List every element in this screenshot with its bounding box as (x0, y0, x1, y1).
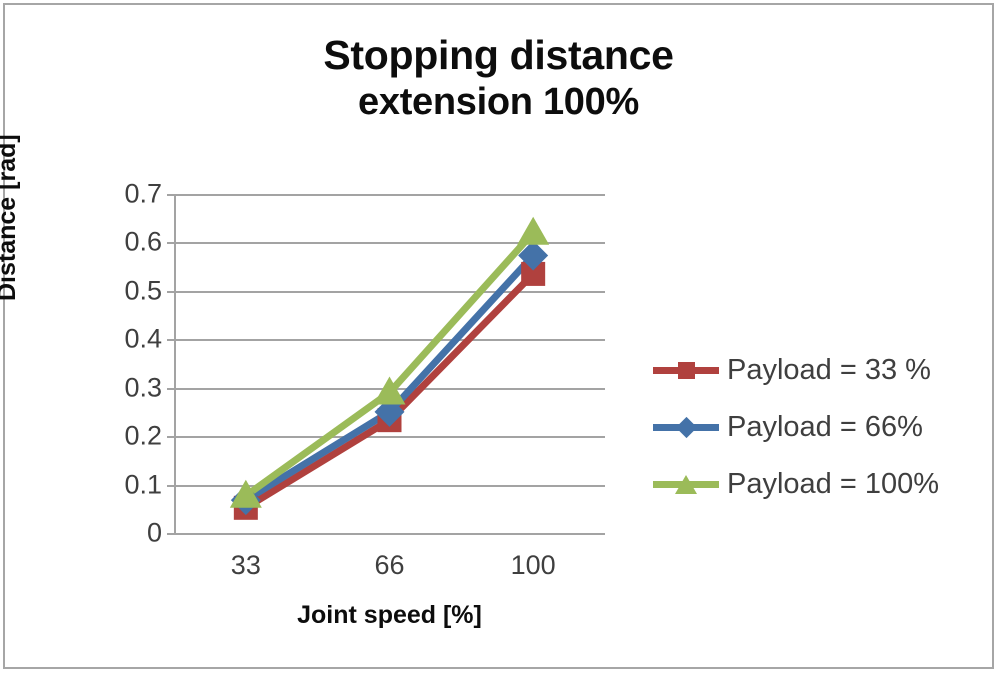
y-tick-mark (167, 388, 174, 390)
chart-legend: Payload = 33 %Payload = 66%Payload = 100… (653, 342, 983, 513)
plot-area (174, 194, 605, 533)
y-tick-label: 0.3 (102, 372, 162, 403)
x-tick-label: 100 (478, 550, 588, 581)
legend-label: Payload = 66% (727, 411, 923, 444)
y-tick-label: 0.7 (102, 179, 162, 210)
y-tick-mark (167, 485, 174, 487)
legend-label: Payload = 100% (727, 468, 939, 501)
y-tick-mark (167, 242, 174, 244)
y-tick-label: 0.6 (102, 227, 162, 258)
y-tick-label: 0.5 (102, 275, 162, 306)
legend-swatch (653, 358, 719, 384)
gridline (174, 533, 605, 535)
x-tick-label: 66 (335, 550, 445, 581)
y-tick-mark (167, 533, 174, 535)
y-tick-mark (167, 291, 174, 293)
legend-marker-triangle (675, 475, 697, 494)
chart-frame: Stopping distance extension 100% Distanc… (3, 3, 994, 669)
legend-swatch (653, 415, 719, 441)
series-marker (517, 217, 549, 245)
y-tick-mark (167, 194, 174, 196)
legend-marker-square (678, 362, 695, 379)
plot-wrapper: Distance [rad] 00.10.20.30.40.50.60.7 33… (5, 5, 996, 671)
y-axis-title: Distance [rad] (0, 134, 22, 301)
y-tick-label: 0.4 (102, 324, 162, 355)
x-tick-label: 33 (191, 550, 301, 581)
y-tick-mark (167, 436, 174, 438)
legend-swatch (653, 472, 719, 498)
y-tick-label: 0 (102, 518, 162, 549)
y-tick-label: 0.2 (102, 421, 162, 452)
legend-item[interactable]: Payload = 100% (653, 456, 983, 513)
legend-marker-diamond (675, 417, 696, 438)
y-tick-label: 0.1 (102, 469, 162, 500)
x-axis-title: Joint speed [%] (174, 601, 605, 630)
legend-item[interactable]: Payload = 66% (653, 399, 983, 456)
series-layer (174, 194, 605, 533)
y-tick-mark (167, 339, 174, 341)
legend-label: Payload = 33 % (727, 354, 931, 387)
legend-item[interactable]: Payload = 33 % (653, 342, 983, 399)
series-line (246, 233, 533, 496)
